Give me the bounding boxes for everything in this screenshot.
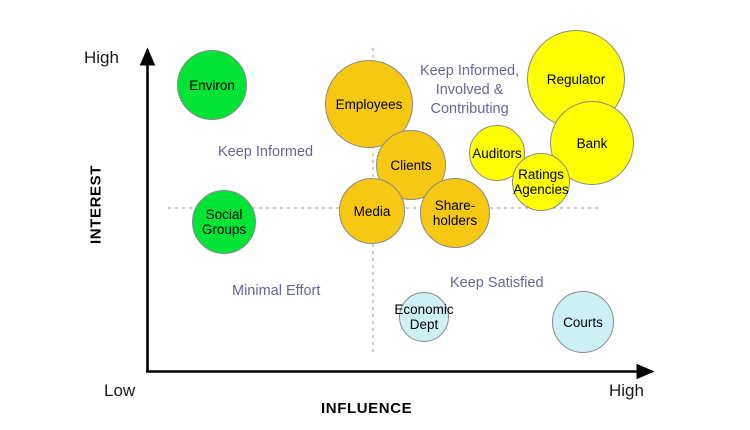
- quadrant-caption-minimal-effort: Minimal Effort: [232, 282, 320, 301]
- bubble-ratings-agencies[interactable]: RatingsAgencies: [512, 153, 570, 211]
- x-axis-low-label: Low: [104, 381, 135, 401]
- x-axis-title: INFLUENCE: [321, 400, 412, 417]
- bubble-label-bank: Bank: [577, 136, 608, 151]
- bubble-label-employees: Employees: [336, 97, 403, 112]
- bubble-label-auditors: Auditors: [472, 146, 522, 161]
- quadrant-caption-keep-informed-involved: Keep Informed, Involved & Contributing: [420, 62, 519, 119]
- bubble-label-courts: Courts: [563, 315, 603, 330]
- caption-line-3: Contributing: [420, 100, 519, 119]
- bubble-economic-dept[interactable]: EconomicDept: [399, 292, 449, 342]
- bubble-shareholders[interactable]: Share-holders: [420, 178, 490, 248]
- bubble-courts[interactable]: Courts: [552, 291, 614, 353]
- y-axis-high-label: High: [84, 48, 119, 68]
- bubble-label-shareholders: Share-holders: [433, 198, 477, 228]
- quadrant-caption-keep-satisfied: Keep Satisfied: [450, 274, 544, 293]
- bubble-label-ratings-agencies: RatingsAgencies: [513, 167, 569, 197]
- y-axis-title: INTEREST: [88, 105, 105, 305]
- bubble-label-environ: Environ: [189, 78, 235, 93]
- quadrant-caption-keep-informed: Keep Informed: [218, 143, 313, 162]
- bubble-label-social-groups: SocialGroups: [202, 207, 246, 237]
- bubble-environ[interactable]: Environ: [177, 50, 247, 120]
- x-axis-high-label: High: [609, 381, 644, 401]
- bubble-media[interactable]: Media: [339, 178, 405, 244]
- bubble-social-groups[interactable]: SocialGroups: [192, 190, 256, 254]
- caption-line-2: Involved &: [420, 81, 519, 100]
- bubble-label-regulator: Regulator: [547, 72, 606, 87]
- caption-line-1: Keep Informed,: [420, 62, 519, 81]
- bubble-label-media: Media: [354, 204, 391, 219]
- bubble-label-clients: Clients: [390, 158, 431, 173]
- bubble-label-economic-dept: EconomicDept: [394, 302, 453, 332]
- stakeholder-map-chart: High Low High INTEREST INFLUENCE Keep In…: [0, 0, 750, 430]
